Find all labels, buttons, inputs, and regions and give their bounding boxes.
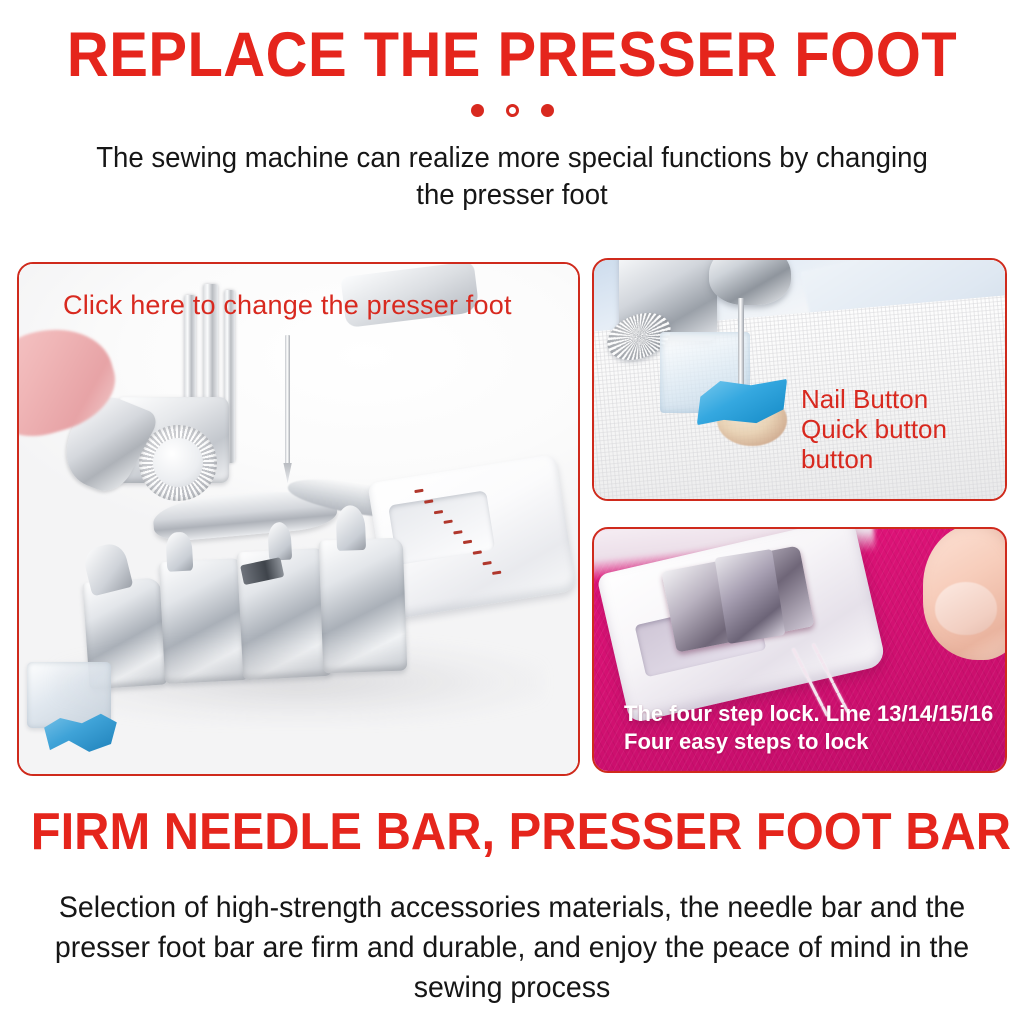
page-title: REPLACE THE PRESSER FOOT <box>41 22 983 88</box>
bottom-right-caption: The four step lock. Line 13/14/15/16 Fou… <box>624 700 994 757</box>
footer-title: FIRM NEEDLE BAR, PRESSER FOOT BAR <box>31 805 994 860</box>
product-shadow <box>53 641 545 723</box>
needle-tip <box>283 463 291 483</box>
infographic-page: REPLACE THE PRESSER FOOT The sewing mach… <box>0 0 1024 1024</box>
footer-subtitle: Selection of high-strength accessories m… <box>47 888 978 1008</box>
caption-line-1: The four step lock. Line 13/14/15/16 <box>624 700 994 729</box>
panel-nail-button: Nail Button Quick button button <box>592 258 1007 501</box>
caption-line-3: button <box>801 444 991 474</box>
dot-solid-right <box>541 104 554 117</box>
dot-solid-left <box>471 104 484 117</box>
fingernail <box>935 582 997 635</box>
presser-bar-screw <box>709 260 791 305</box>
divider-dots <box>0 104 1024 117</box>
dot-hollow-center <box>506 104 519 117</box>
sewing-needle <box>285 335 290 468</box>
adjustment-wheel <box>139 425 217 502</box>
top-right-caption: Nail Button Quick button button <box>801 384 991 474</box>
measure-ticks <box>402 462 565 606</box>
left-panel-caption: Click here to change the presser foot <box>63 290 512 321</box>
caption-line-1: Nail Button <box>801 384 991 414</box>
panel-change-presser-foot: Click here to change the presser foot <box>17 262 580 776</box>
caption-line-2: Quick button <box>801 414 991 444</box>
panel-four-step-lock: The four step lock. Line 13/14/15/16 Fou… <box>592 527 1007 773</box>
photo-presser-foot-set <box>19 264 578 774</box>
caption-line-2: Four easy steps to lock <box>624 728 994 757</box>
page-subtitle: The sewing machine can realize more spec… <box>85 140 940 214</box>
